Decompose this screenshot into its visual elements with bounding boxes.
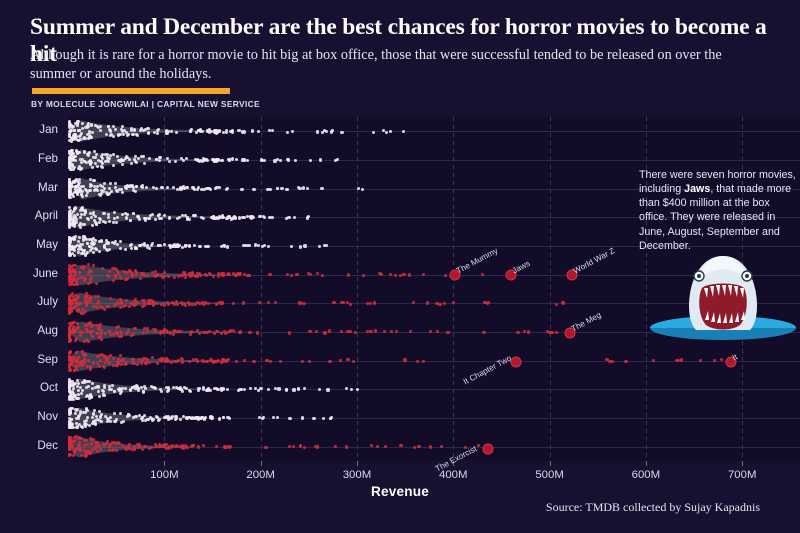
data-point bbox=[90, 395, 93, 398]
data-point bbox=[79, 226, 82, 229]
data-point bbox=[141, 243, 144, 246]
data-point bbox=[321, 274, 324, 277]
data-point bbox=[417, 445, 420, 448]
data-point bbox=[186, 217, 189, 220]
data-point bbox=[142, 331, 145, 334]
data-point bbox=[209, 273, 212, 276]
data-point bbox=[374, 329, 377, 332]
data-point bbox=[81, 127, 84, 130]
data-point bbox=[238, 216, 241, 219]
data-point bbox=[105, 133, 108, 136]
data-point bbox=[140, 127, 143, 130]
data-point bbox=[203, 158, 206, 161]
data-point bbox=[153, 274, 156, 277]
data-point bbox=[254, 387, 257, 390]
highlight-point-the-exorcist[interactable] bbox=[483, 444, 494, 455]
data-point bbox=[130, 247, 133, 250]
data-point bbox=[227, 445, 230, 448]
data-point bbox=[125, 299, 128, 302]
data-point bbox=[123, 129, 126, 132]
data-point bbox=[129, 270, 132, 273]
data-point bbox=[390, 330, 393, 333]
data-point bbox=[124, 212, 127, 215]
data-point bbox=[115, 418, 118, 421]
data-point bbox=[69, 436, 72, 439]
data-point bbox=[267, 301, 270, 304]
data-point bbox=[73, 298, 76, 301]
data-point bbox=[112, 153, 115, 156]
data-point bbox=[276, 158, 279, 161]
data-point bbox=[69, 323, 72, 326]
data-point bbox=[163, 243, 166, 246]
data-point bbox=[185, 417, 188, 420]
data-point bbox=[185, 387, 188, 390]
data-point bbox=[403, 358, 406, 361]
data-point bbox=[120, 277, 123, 280]
data-point bbox=[79, 216, 82, 219]
data-point bbox=[163, 271, 166, 274]
data-point bbox=[207, 187, 210, 190]
x-tick-label: 400M bbox=[439, 469, 468, 481]
data-point bbox=[357, 187, 360, 190]
data-point bbox=[71, 222, 74, 225]
y-axis-label-mar: Mar bbox=[0, 181, 58, 194]
data-point bbox=[84, 296, 87, 299]
data-point bbox=[218, 129, 221, 132]
annotation-text: There were seven horror movies, includin… bbox=[639, 168, 799, 253]
data-point bbox=[256, 331, 259, 334]
data-point bbox=[74, 159, 77, 162]
data-point bbox=[235, 158, 238, 161]
data-point bbox=[190, 128, 193, 131]
data-point bbox=[348, 330, 351, 333]
data-point bbox=[74, 186, 77, 189]
data-point bbox=[356, 388, 359, 391]
data-point bbox=[188, 244, 191, 247]
data-point bbox=[90, 216, 93, 219]
data-point bbox=[319, 158, 322, 161]
data-point bbox=[133, 362, 136, 365]
data-point bbox=[111, 441, 114, 444]
data-point bbox=[126, 184, 129, 187]
data-point bbox=[354, 331, 357, 334]
data-point bbox=[78, 423, 81, 426]
data-point bbox=[218, 417, 221, 420]
data-point bbox=[527, 330, 530, 333]
data-point bbox=[231, 157, 234, 160]
data-point bbox=[91, 131, 94, 134]
data-point bbox=[91, 416, 94, 419]
data-point bbox=[90, 443, 93, 446]
data-point bbox=[204, 331, 207, 334]
data-point bbox=[680, 358, 683, 361]
infographic-root: Summer and December are the best chances… bbox=[0, 0, 800, 533]
x-tick-label: 100M bbox=[150, 469, 179, 481]
data-point bbox=[120, 335, 123, 338]
data-point bbox=[165, 386, 168, 389]
data-point bbox=[68, 339, 71, 342]
data-point bbox=[175, 131, 178, 134]
data-point bbox=[185, 157, 188, 160]
data-point bbox=[290, 245, 293, 248]
data-point bbox=[429, 445, 432, 448]
data-point bbox=[100, 239, 103, 242]
y-axis-label-june: June bbox=[0, 267, 58, 280]
data-point bbox=[76, 151, 79, 154]
data-point bbox=[214, 129, 217, 132]
x-axis-title: Revenue bbox=[0, 484, 800, 499]
data-point bbox=[345, 445, 348, 448]
data-point bbox=[226, 388, 229, 391]
data-point bbox=[92, 420, 95, 423]
data-point bbox=[150, 417, 153, 420]
data-point bbox=[172, 302, 175, 305]
data-point bbox=[242, 216, 245, 219]
data-point bbox=[135, 384, 138, 387]
data-point bbox=[303, 244, 306, 247]
data-point bbox=[86, 301, 89, 304]
data-point bbox=[159, 388, 162, 391]
data-point bbox=[228, 330, 231, 333]
data-point bbox=[83, 423, 86, 426]
data-point bbox=[117, 133, 120, 136]
data-point bbox=[94, 188, 97, 191]
data-point bbox=[76, 192, 79, 195]
data-point bbox=[211, 216, 214, 219]
x-tick bbox=[357, 461, 358, 466]
data-point bbox=[146, 274, 149, 277]
data-point bbox=[85, 407, 88, 410]
data-point bbox=[274, 301, 277, 304]
data-point bbox=[184, 245, 187, 248]
data-point bbox=[111, 241, 114, 244]
data-point bbox=[77, 277, 80, 280]
data-point bbox=[68, 380, 71, 383]
data-point bbox=[233, 215, 236, 218]
y-axis-label-april: April bbox=[0, 209, 58, 222]
data-point bbox=[120, 188, 123, 191]
data-point bbox=[192, 358, 195, 361]
data-point bbox=[79, 447, 82, 450]
data-point bbox=[86, 416, 89, 419]
x-tick-label: 200M bbox=[246, 469, 275, 481]
data-point bbox=[68, 310, 71, 313]
data-point bbox=[197, 445, 200, 448]
data-point bbox=[78, 271, 81, 274]
x-tick bbox=[164, 461, 165, 466]
data-point bbox=[142, 273, 145, 276]
data-point bbox=[243, 359, 246, 362]
data-point bbox=[91, 166, 94, 169]
data-point bbox=[128, 305, 131, 308]
data-point bbox=[443, 302, 446, 305]
data-point bbox=[285, 188, 288, 191]
data-point bbox=[369, 302, 372, 305]
data-point bbox=[611, 360, 614, 363]
data-point bbox=[323, 331, 326, 334]
data-point bbox=[302, 186, 305, 189]
y-axis-label-nov: Nov bbox=[0, 410, 58, 423]
data-point bbox=[108, 330, 111, 333]
data-point bbox=[308, 330, 311, 333]
data-point bbox=[481, 273, 484, 276]
y-axis-label-jan: Jan bbox=[0, 123, 58, 136]
data-point bbox=[313, 417, 316, 420]
data-point bbox=[212, 275, 215, 278]
data-point bbox=[132, 416, 135, 419]
data-point bbox=[109, 297, 112, 300]
data-point bbox=[234, 274, 237, 277]
data-point bbox=[89, 183, 92, 186]
data-point bbox=[75, 422, 78, 425]
data-point bbox=[95, 415, 98, 418]
byline: BY MOLECULE JONGWILAI | CAPITAL NEW SERV… bbox=[31, 99, 260, 109]
data-point bbox=[199, 129, 202, 132]
data-point bbox=[132, 333, 135, 336]
data-point bbox=[77, 389, 80, 392]
data-point bbox=[168, 160, 171, 163]
data-point bbox=[73, 225, 76, 228]
data-point bbox=[320, 187, 323, 190]
data-point bbox=[264, 446, 267, 449]
annotation-line-1: There were seven horror movies, bbox=[639, 169, 796, 181]
data-point bbox=[75, 365, 78, 368]
data-point bbox=[240, 188, 243, 191]
data-point bbox=[95, 153, 98, 156]
data-point bbox=[97, 295, 100, 298]
data-point bbox=[91, 448, 94, 451]
data-point bbox=[138, 414, 141, 417]
data-point bbox=[178, 216, 181, 219]
data-point bbox=[85, 238, 88, 241]
data-point bbox=[158, 159, 161, 162]
data-point bbox=[172, 186, 175, 189]
data-point bbox=[122, 270, 125, 273]
data-point bbox=[157, 244, 160, 247]
y-axis-label-sep: Sep bbox=[0, 353, 58, 366]
data-point bbox=[85, 328, 88, 331]
data-point bbox=[69, 411, 72, 414]
data-point bbox=[216, 360, 219, 363]
data-point bbox=[372, 131, 375, 134]
data-point bbox=[69, 362, 72, 365]
data-point bbox=[120, 363, 123, 366]
data-point bbox=[198, 332, 201, 335]
data-point bbox=[242, 301, 245, 304]
data-point bbox=[422, 360, 425, 363]
data-point bbox=[129, 219, 132, 222]
data-point bbox=[251, 129, 254, 132]
data-point bbox=[125, 216, 128, 219]
data-point bbox=[80, 331, 83, 334]
data-point bbox=[73, 306, 76, 309]
data-point bbox=[218, 216, 221, 219]
data-point bbox=[100, 155, 103, 158]
data-point bbox=[389, 130, 392, 133]
data-point bbox=[75, 337, 78, 340]
data-point bbox=[70, 140, 73, 143]
data-point bbox=[98, 250, 101, 253]
data-point bbox=[271, 129, 274, 132]
data-point bbox=[88, 160, 91, 163]
data-point bbox=[220, 387, 223, 390]
data-point bbox=[146, 418, 149, 421]
data-point bbox=[97, 390, 100, 393]
data-point bbox=[137, 446, 140, 449]
data-point bbox=[183, 302, 186, 305]
data-point bbox=[332, 301, 335, 304]
data-point bbox=[114, 274, 117, 277]
data-point bbox=[272, 416, 275, 419]
data-point bbox=[369, 330, 372, 333]
data-point bbox=[114, 182, 117, 185]
data-point bbox=[143, 162, 146, 165]
data-point bbox=[103, 182, 106, 185]
data-point bbox=[90, 270, 93, 273]
data-point bbox=[298, 301, 301, 304]
data-point bbox=[126, 415, 129, 418]
data-point bbox=[111, 267, 114, 270]
data-point bbox=[99, 160, 102, 163]
data-point bbox=[180, 388, 183, 391]
data-point bbox=[93, 179, 96, 182]
data-point bbox=[108, 220, 111, 223]
data-point bbox=[68, 161, 71, 164]
data-point bbox=[199, 159, 202, 162]
data-point bbox=[113, 211, 116, 214]
data-point bbox=[209, 358, 212, 361]
data-point bbox=[70, 440, 73, 443]
data-point bbox=[68, 178, 71, 181]
data-point bbox=[285, 388, 288, 391]
data-point bbox=[105, 358, 108, 361]
data-point bbox=[262, 416, 265, 419]
highlight-point-it-chapter-two[interactable] bbox=[511, 357, 522, 368]
data-point bbox=[111, 384, 114, 387]
data-point bbox=[115, 326, 118, 329]
data-point bbox=[316, 130, 319, 133]
data-point bbox=[204, 301, 207, 304]
data-point bbox=[130, 162, 133, 165]
data-point bbox=[194, 303, 197, 306]
data-point bbox=[154, 218, 157, 221]
data-point bbox=[70, 446, 73, 449]
data-point bbox=[347, 273, 350, 276]
data-point bbox=[91, 224, 94, 227]
data-point bbox=[68, 221, 71, 224]
data-point bbox=[385, 131, 388, 134]
data-point bbox=[90, 136, 93, 139]
annotation-line-2c: , that made more bbox=[710, 183, 791, 195]
data-point bbox=[130, 302, 133, 305]
data-point bbox=[173, 360, 176, 363]
data-point bbox=[257, 130, 260, 133]
data-point bbox=[174, 415, 177, 418]
data-point bbox=[318, 388, 321, 391]
data-point bbox=[163, 304, 166, 307]
data-point bbox=[221, 358, 224, 361]
x-tick bbox=[742, 461, 743, 466]
data-point bbox=[268, 129, 271, 132]
data-point bbox=[373, 301, 376, 304]
data-point bbox=[105, 239, 108, 242]
data-point bbox=[242, 244, 245, 247]
data-point bbox=[237, 129, 240, 132]
data-point bbox=[147, 127, 150, 130]
data-point bbox=[73, 369, 76, 372]
data-point bbox=[180, 446, 183, 449]
data-point bbox=[132, 212, 135, 215]
data-point bbox=[103, 366, 106, 369]
x-tick bbox=[550, 461, 551, 466]
data-point bbox=[77, 393, 80, 396]
data-point bbox=[143, 304, 146, 307]
data-point bbox=[76, 322, 79, 325]
data-point bbox=[90, 124, 93, 127]
data-point bbox=[176, 303, 179, 306]
data-point bbox=[259, 387, 262, 390]
data-point bbox=[84, 209, 87, 212]
data-point bbox=[96, 355, 99, 358]
data-point bbox=[402, 273, 405, 276]
data-point bbox=[100, 353, 103, 356]
data-point bbox=[91, 240, 94, 243]
data-point bbox=[315, 330, 318, 333]
source-note: Source: TMDB collected by Sujay Kapadnis bbox=[546, 500, 760, 515]
y-axis-label-aug: Aug bbox=[0, 324, 58, 337]
data-point bbox=[81, 122, 84, 125]
data-point bbox=[172, 386, 175, 389]
data-point bbox=[112, 125, 115, 128]
data-point bbox=[87, 125, 90, 128]
data-point bbox=[89, 332, 92, 335]
data-point bbox=[254, 243, 257, 246]
data-point bbox=[74, 206, 77, 209]
data-point bbox=[294, 159, 297, 162]
data-point bbox=[85, 304, 88, 307]
data-point bbox=[134, 155, 137, 158]
data-point bbox=[438, 303, 441, 306]
data-point bbox=[84, 137, 87, 140]
data-point bbox=[95, 442, 98, 445]
data-point bbox=[70, 237, 73, 240]
data-point bbox=[158, 418, 161, 421]
data-point bbox=[83, 265, 86, 268]
data-point bbox=[238, 272, 241, 275]
data-point bbox=[73, 129, 76, 132]
data-point bbox=[83, 277, 86, 280]
data-point bbox=[226, 187, 229, 190]
data-point bbox=[109, 182, 112, 185]
data-point bbox=[444, 274, 447, 277]
annotation-line-2a: including bbox=[639, 183, 684, 195]
data-point bbox=[288, 417, 291, 420]
data-point bbox=[81, 426, 84, 429]
data-point bbox=[119, 354, 122, 357]
data-point bbox=[328, 360, 331, 363]
data-point bbox=[440, 445, 443, 448]
x-tick bbox=[646, 461, 647, 466]
data-point bbox=[309, 159, 312, 162]
data-point bbox=[80, 193, 83, 196]
data-point bbox=[112, 357, 115, 360]
data-point bbox=[191, 271, 194, 274]
data-point bbox=[362, 274, 365, 277]
data-point bbox=[89, 278, 92, 281]
data-point bbox=[713, 359, 716, 362]
data-point bbox=[147, 217, 150, 220]
shark-icon bbox=[648, 250, 798, 355]
